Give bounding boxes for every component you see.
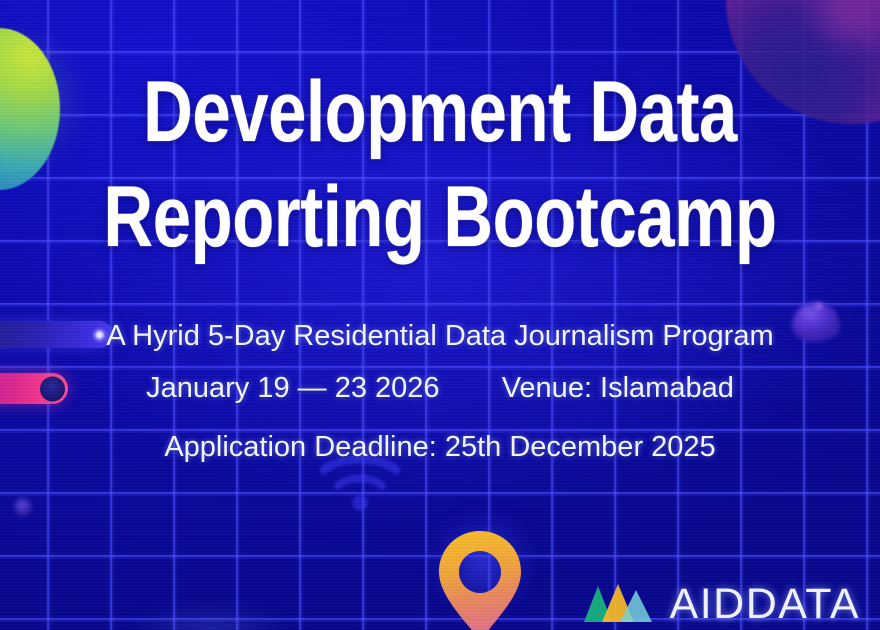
page-title-line-2: Reporting Bootcamp (88, 165, 792, 270)
page-title: Development Data Reporting Bootcamp (88, 60, 792, 270)
page-title-line-1: Development Data (88, 60, 792, 165)
aiddata-wordmark: AIDDATA (670, 583, 860, 626)
dates-and-venue: January 19 — 23 2026 Venue: Islamabad (0, 372, 880, 405)
three-mountains-icon (582, 582, 654, 626)
subtitle: A Hyrid 5-Day Residential Data Journalis… (0, 320, 880, 353)
aiddata-logo: AIDDATA (582, 582, 860, 626)
application-deadline: Application Deadline: 25th December 2025 (0, 431, 880, 464)
event-dates: January 19 — 23 2026 (146, 372, 439, 404)
event-venue: Venue: Islamabad (502, 372, 734, 404)
promo-poster: Development Data Reporting Bootcamp A Hy… (0, 0, 880, 630)
